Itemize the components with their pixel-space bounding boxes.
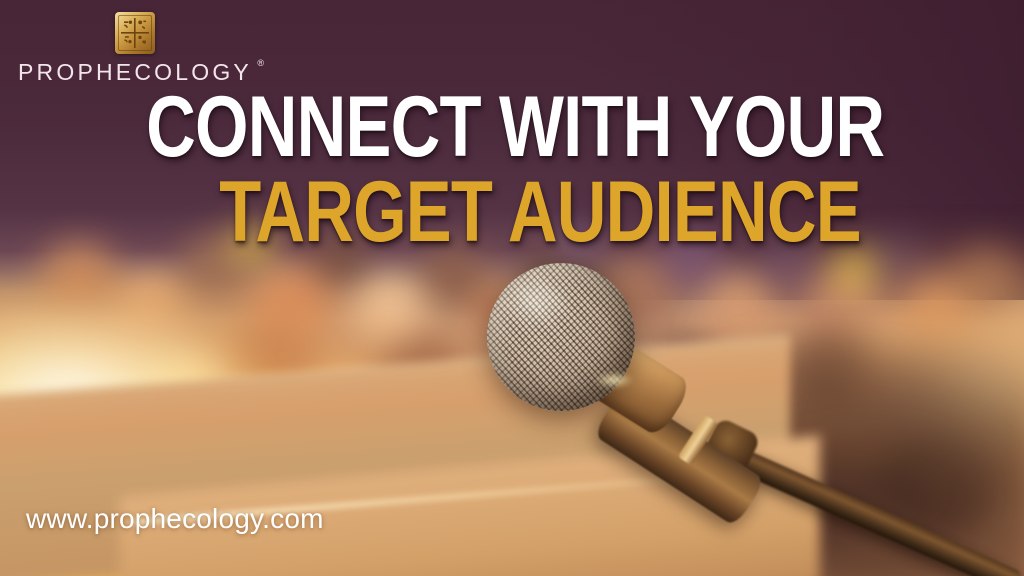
- registered-trademark-icon: ®: [257, 59, 264, 68]
- headline-line-1: CONNECT WITH YOUR: [102, 88, 921, 167]
- website-url[interactable]: www.prophecology.com: [26, 503, 324, 535]
- microphone-boom-arm-icon: [711, 438, 1022, 576]
- microphone-glint: [594, 372, 634, 388]
- brand-logo[interactable]: PROPHECOLOGY®: [18, 12, 252, 85]
- headline-block: CONNECT WITH YOUR TARGET AUDIENCE: [0, 88, 1024, 252]
- microphone-head-highlight: [512, 281, 574, 329]
- promo-banner: PROPHECOLOGY® CONNECT WITH YOUR TARGET A…: [0, 0, 1024, 576]
- prophecology-book-glyph-icon: [115, 12, 155, 54]
- headline-line-2: TARGET AUDIENCE: [102, 173, 921, 252]
